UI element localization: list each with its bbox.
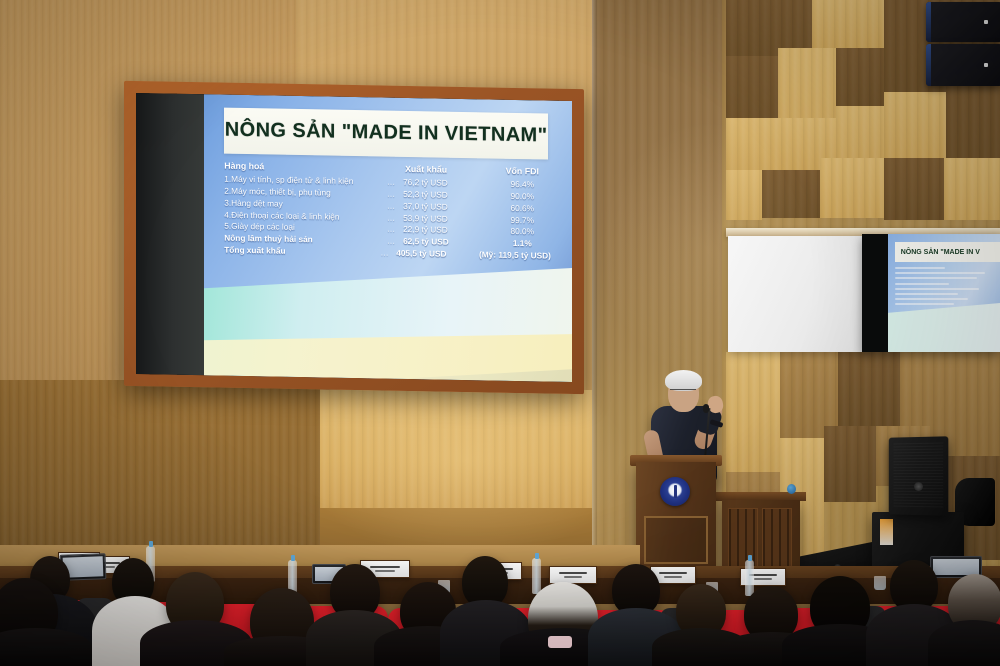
wood-tile bbox=[824, 426, 876, 502]
podium-front-panel bbox=[644, 516, 708, 564]
row-dots: … bbox=[380, 237, 403, 246]
wood-tile bbox=[944, 158, 1000, 220]
row-item: 1.Máy vi tính, sp điện tử & linh kiện bbox=[224, 174, 380, 185]
row-dots: … bbox=[380, 177, 403, 186]
secondary-display-slide: NÔNG SẢN "MADE IN V bbox=[888, 234, 1000, 352]
eyeglasses-icon bbox=[670, 389, 696, 395]
total-export: 405,5 tỷ USD bbox=[396, 249, 479, 259]
placard-text-line bbox=[659, 572, 686, 574]
placard-text-line bbox=[559, 572, 588, 574]
placard-text-line bbox=[375, 570, 394, 572]
placard-text-line bbox=[754, 578, 772, 580]
row-item: 3.Hàng dệt may bbox=[224, 198, 380, 209]
projection-screen: NÔNG SẢN "MADE IN VIETNAM" Hàng hoá Xuất… bbox=[124, 81, 584, 394]
text-line bbox=[895, 283, 950, 285]
pa-speaker-top bbox=[889, 436, 949, 515]
speaker-grill bbox=[893, 443, 943, 508]
drinking-glass bbox=[874, 576, 886, 590]
wood-tile bbox=[838, 352, 900, 426]
text-line bbox=[895, 267, 946, 269]
row-fdi: 80.0% bbox=[489, 227, 555, 237]
secondary-display-letterbox bbox=[862, 234, 888, 352]
whiteboard bbox=[728, 236, 868, 352]
audience-shoulders bbox=[928, 620, 1000, 666]
wall-column-edge bbox=[592, 0, 597, 600]
water-bottle bbox=[532, 558, 541, 594]
secondary-slide-text-lines bbox=[895, 267, 1000, 309]
laptop-screen bbox=[933, 559, 979, 575]
text-line bbox=[895, 298, 969, 300]
text-line bbox=[895, 288, 979, 290]
water-bottle bbox=[745, 560, 754, 596]
header-export: Xuất khẩu bbox=[403, 165, 489, 175]
conference-hall-photo: NÔNG SẢN "MADE IN VIETNAM" Hàng hoá Xuất… bbox=[0, 0, 1000, 666]
total-dots: … bbox=[374, 249, 396, 258]
line-array-speaker bbox=[926, 44, 1000, 86]
row-fdi: 90.0% bbox=[489, 191, 555, 201]
row-dots: … bbox=[380, 189, 403, 198]
row-export: 53,9 tỷ USD bbox=[403, 213, 489, 223]
secondary-slide-title-band: NÔNG SẢN "MADE IN V bbox=[895, 242, 1000, 262]
wood-tile bbox=[884, 158, 944, 220]
speaker-label-tag bbox=[880, 519, 893, 545]
row-dots: … bbox=[380, 201, 403, 210]
cabinet-door[interactable] bbox=[762, 508, 792, 574]
audience-shoulders bbox=[0, 628, 92, 666]
slide-title-band: NÔNG SẢN "MADE IN VIETNAM" bbox=[224, 107, 548, 159]
slide-title: NÔNG SẢN "MADE IN VIETNAM" bbox=[225, 119, 548, 148]
row-export: 37,0 tỷ USD bbox=[403, 202, 489, 212]
wood-tile bbox=[726, 56, 778, 118]
row-dots: … bbox=[380, 213, 403, 222]
header-item: Hàng hoá bbox=[224, 162, 380, 174]
wood-tile bbox=[820, 158, 884, 218]
row-export: 22,9 tỷ USD bbox=[403, 225, 489, 235]
row-export: 76,2 tỷ USD bbox=[403, 178, 489, 188]
projection-screen-surface: NÔNG SẢN "MADE IN VIETNAM" Hàng hoá Xuất… bbox=[136, 93, 572, 382]
slide-wave-decoration-accent bbox=[204, 333, 572, 382]
secondary-display: NÔNG SẢN "MADE IN V bbox=[862, 234, 1000, 352]
text-line bbox=[895, 303, 954, 305]
row-item: 5.Giày dép các loại bbox=[224, 222, 380, 233]
placard-text-line bbox=[564, 576, 582, 578]
row-item: Nông lâm thuỷ hải sản bbox=[224, 234, 380, 245]
row-dots: … bbox=[380, 225, 403, 234]
row-fdi: 99.7% bbox=[489, 215, 555, 225]
blue-knob-object bbox=[787, 484, 796, 494]
total-note: (Mỹ: 119,5 tỷ USD) bbox=[479, 250, 555, 260]
row-export: 52,3 tỷ USD bbox=[403, 190, 489, 200]
speaker-edge-trim bbox=[926, 44, 931, 86]
text-line bbox=[895, 293, 958, 295]
line-array-speaker bbox=[926, 2, 1000, 42]
text-line bbox=[895, 272, 986, 274]
row-fdi: 1.1% bbox=[489, 239, 555, 249]
row-fdi: 96.4% bbox=[489, 179, 555, 189]
wood-tile bbox=[762, 170, 820, 218]
wood-tile bbox=[836, 48, 884, 106]
speaker-logo-icon bbox=[984, 63, 988, 67]
row-item: 4.Điện thoại các loại & linh kiện bbox=[224, 210, 380, 221]
podium-emblem bbox=[660, 477, 690, 506]
slide-data-table: Hàng hoá Xuất khẩu Vốn FDI 1.Máy vi tính… bbox=[224, 162, 555, 264]
secondary-slide-title: NÔNG SẢN "MADE IN V bbox=[901, 249, 980, 256]
wood-tile bbox=[726, 352, 780, 472]
hair-clip bbox=[548, 636, 572, 648]
placard-text-line bbox=[664, 576, 682, 578]
wood-tile bbox=[884, 92, 946, 158]
name-placard bbox=[549, 566, 597, 584]
wall-alcove-lit bbox=[318, 390, 596, 520]
speaker-edge-trim bbox=[926, 2, 931, 42]
screen-letterbox-bar bbox=[136, 93, 204, 375]
microphone bbox=[703, 404, 709, 413]
row-fdi: 60.6% bbox=[489, 203, 555, 213]
slide-wave-decoration bbox=[888, 302, 1000, 352]
table-total-row: Tổng xuất khẩu … 405,5 tỷ USD (Mỹ: 119,5… bbox=[224, 246, 555, 260]
presenter-hair bbox=[665, 370, 702, 391]
wood-tile bbox=[726, 170, 762, 220]
presentation-slide: NÔNG SẢN "MADE IN VIETNAM" Hàng hoá Xuất… bbox=[204, 94, 572, 382]
wood-tile bbox=[812, 0, 884, 48]
row-item: 2.Máy móc, thiết bị, phụ tùng bbox=[224, 186, 380, 197]
header-fdi: Vốn FDI bbox=[489, 167, 555, 177]
speaker-logo-icon bbox=[984, 20, 988, 24]
text-line bbox=[895, 277, 977, 279]
total-label: Tổng xuất khẩu bbox=[224, 246, 374, 257]
placard-text-line bbox=[370, 566, 400, 568]
row-export: 62,5 tỷ USD bbox=[403, 237, 489, 247]
